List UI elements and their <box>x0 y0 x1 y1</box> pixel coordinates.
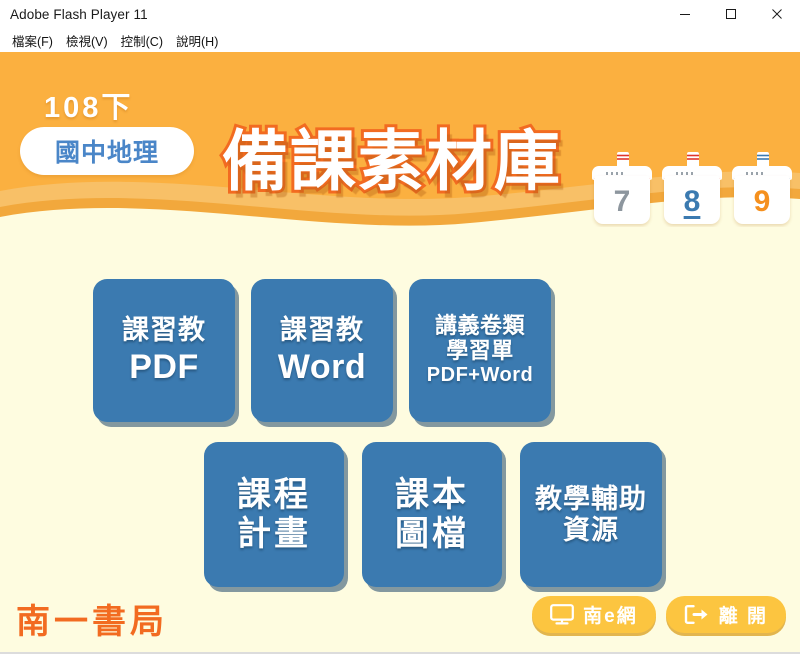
nani-web-label: 南e網 <box>583 601 638 628</box>
book-number: 7 <box>614 187 631 217</box>
menu-button-lesson-pdf[interactable]: 課習教 PDF <box>93 279 235 422</box>
button-label-latin: PDF <box>129 348 199 386</box>
maximize-icon <box>725 8 737 20</box>
button-label-cjk: 課本 <box>395 476 469 514</box>
button-label-cjk2: 學習單 <box>446 339 514 364</box>
menu-bar: 檔案(F) 檢視(V) 控制(C) 說明(H) <box>0 28 800 52</box>
book-body: 8 <box>664 176 720 224</box>
close-icon <box>771 8 783 20</box>
button-label-cjk2: 計畫 <box>237 515 311 553</box>
menu-item-control[interactable]: 控制(C) <box>117 29 172 52</box>
book-dots <box>676 171 708 175</box>
window-controls <box>662 0 800 28</box>
button-label-cjk2: 圖檔 <box>395 515 469 553</box>
footer-bar: 南一書局 南e網 離 開 <box>0 582 800 654</box>
grade-year-label: 108下 <box>44 84 133 126</box>
page-title: 備課素材庫 <box>222 108 562 204</box>
menu-button-course-plan[interactable]: 課程 計畫 <box>204 442 344 587</box>
button-label-latin: PDF+Word <box>427 364 533 386</box>
book-tab-stripes <box>617 154 629 162</box>
book-dots <box>606 171 638 175</box>
menu-button-textbook-images[interactable]: 課本 圖檔 <box>362 442 502 587</box>
book-icon-9[interactable]: 9 <box>732 152 792 224</box>
subject-pill[interactable]: 國中地理 <box>20 127 194 175</box>
button-label-cjk2: 資源 <box>563 515 619 545</box>
button-label-latin: Word <box>278 348 366 386</box>
menu-item-file[interactable]: 檔案(F) <box>8 29 62 52</box>
book-body: 9 <box>734 176 790 224</box>
book-tab-stripes <box>687 154 699 162</box>
book-icon-8[interactable]: 8 <box>662 152 722 224</box>
main-menu-grid: 課習教 PDF 課習教 Word 講義卷類 學習單 PDF+Word 課程 計畫… <box>0 227 800 607</box>
book-icon-7[interactable]: 7 <box>592 152 652 224</box>
close-button[interactable] <box>754 0 800 28</box>
book-tab-stripes <box>757 154 769 162</box>
menu-button-teaching-resources[interactable]: 教學輔助 資源 <box>520 442 662 587</box>
menu-button-lesson-word[interactable]: 課習教 Word <box>251 279 393 422</box>
header-banner: 108下 國中地理 備課素材庫 <box>0 52 800 227</box>
button-label-cjk: 課習教 <box>122 315 206 345</box>
grade-book-icons: 7 8 <box>592 152 792 224</box>
exit-button[interactable]: 離 開 <box>666 596 786 633</box>
menu-button-worksheets[interactable]: 講義卷類 學習單 PDF+Word <box>409 279 551 422</box>
window-title: Adobe Flash Player 11 <box>0 7 148 22</box>
menu-item-help[interactable]: 說明(H) <box>172 29 227 52</box>
monitor-icon <box>550 604 574 625</box>
button-label-cjk: 教學輔助 <box>535 484 647 514</box>
menu-item-view[interactable]: 檢視(V) <box>62 29 117 52</box>
exit-icon <box>684 604 710 625</box>
minimize-button[interactable] <box>662 0 708 28</box>
book-number: 9 <box>754 187 771 217</box>
button-label-cjk: 講義卷類 <box>435 314 525 339</box>
button-label-cjk: 課習教 <box>280 315 364 345</box>
footer-actions: 南e網 離 開 <box>532 596 786 633</box>
subject-label: 國中地理 <box>55 133 159 169</box>
book-number: 8 <box>684 187 701 217</box>
flash-stage: 108下 國中地理 備課素材庫 <box>0 52 800 654</box>
exit-label: 離 開 <box>719 601 768 628</box>
book-body: 7 <box>594 176 650 224</box>
minimize-icon <box>679 8 691 20</box>
book-dots <box>746 171 778 175</box>
maximize-button[interactable] <box>708 0 754 28</box>
title-bar: Adobe Flash Player 11 <box>0 0 800 28</box>
button-label-cjk: 課程 <box>237 476 311 514</box>
flash-player-window: Adobe Flash Player 11 檔案(F) 檢視(V <box>0 0 800 654</box>
nani-web-button[interactable]: 南e網 <box>532 596 656 633</box>
grade-subject-block: 108下 國中地理 <box>12 84 202 199</box>
publisher-logo: 南一書局 <box>16 594 168 643</box>
